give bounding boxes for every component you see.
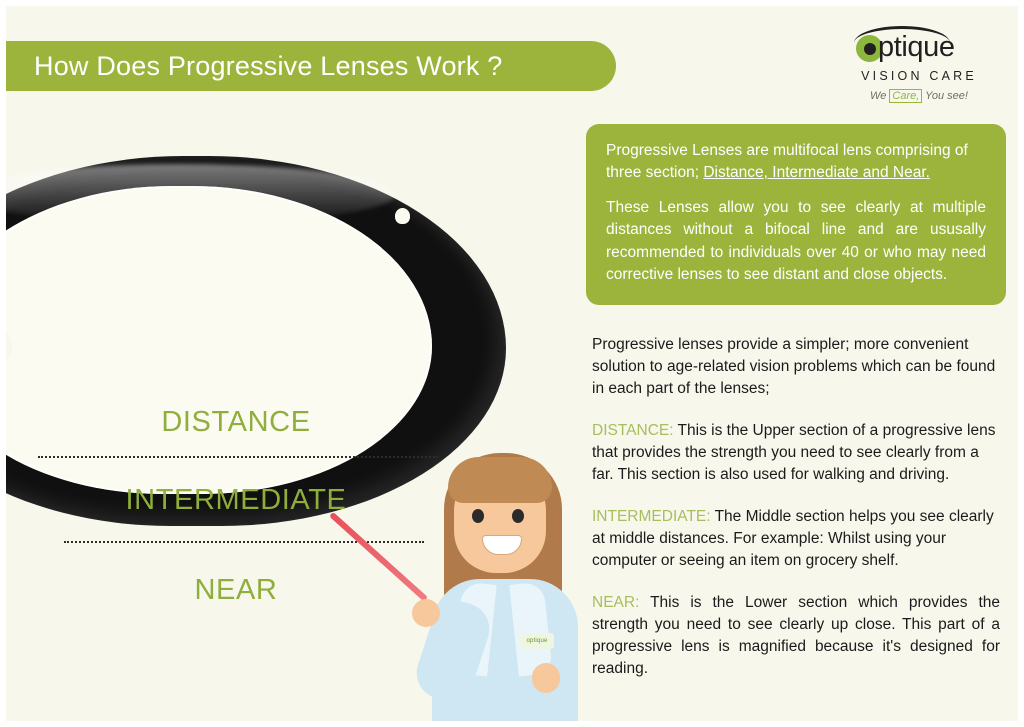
section-lead-intermediate: INTERMEDIATE: xyxy=(592,508,711,525)
lens-zone-label-distance: DISTANCE xyxy=(36,406,436,439)
character-eye-left xyxy=(472,509,484,523)
section-text-near: This is the Lower section which provides… xyxy=(592,594,1000,677)
tagline-boxed: Care, xyxy=(889,89,922,103)
callout-text-underlined: Distance, Intermediate and Near. xyxy=(703,164,930,181)
coat-logo-badge: optique xyxy=(520,633,554,649)
character-fringe xyxy=(448,457,552,503)
section-lead-distance: DISTANCE: xyxy=(592,422,674,439)
body-section-distance: DISTANCE: This is the Upper section of a… xyxy=(592,420,1000,486)
logo-tagline: We Care, You see! xyxy=(844,90,994,102)
page-title: How Does Progressive Lenses Work ? xyxy=(0,51,503,82)
callout-paragraph-1: Progressive Lenses are multifocal lens c… xyxy=(606,140,986,185)
summary-callout-box: Progressive Lenses are multifocal lens c… xyxy=(586,124,1006,305)
lens-surface xyxy=(0,186,432,494)
optician-character: optique xyxy=(336,451,586,727)
pointer-stick-icon xyxy=(329,512,428,602)
body-intro-paragraph: Progressive lenses provide a simpler; mo… xyxy=(592,334,1000,400)
body-section-intermediate: INTERMEDIATE: The Middle section helps y… xyxy=(592,506,1000,572)
infographic-page: How Does Progressive Lenses Work ? ptiqu… xyxy=(0,0,1024,727)
tagline-after: You see! xyxy=(922,90,968,102)
hinge-highlight-icon xyxy=(395,208,410,224)
section-lead-near: NEAR: xyxy=(592,594,639,611)
character-hand-left xyxy=(412,599,440,627)
logo-brand-text: ptique xyxy=(878,31,955,64)
brand-logo: ptique VISION CARE We Care, You see! xyxy=(844,24,994,114)
tagline-before: We xyxy=(870,90,889,102)
callout-paragraph-2: These Lenses allow you to see clearly at… xyxy=(606,197,986,287)
character-hand-right xyxy=(532,663,560,693)
body-text-column: Progressive lenses provide a simpler; mo… xyxy=(592,334,1000,700)
page-title-banner: How Does Progressive Lenses Work ? xyxy=(0,41,616,91)
logo-subtitle: VISION CARE xyxy=(844,69,994,83)
logo-wordmark-row: ptique xyxy=(844,24,994,66)
character-eye-right xyxy=(512,509,524,523)
body-section-near: NEAR: This is the Lower section which pr… xyxy=(592,592,1000,680)
